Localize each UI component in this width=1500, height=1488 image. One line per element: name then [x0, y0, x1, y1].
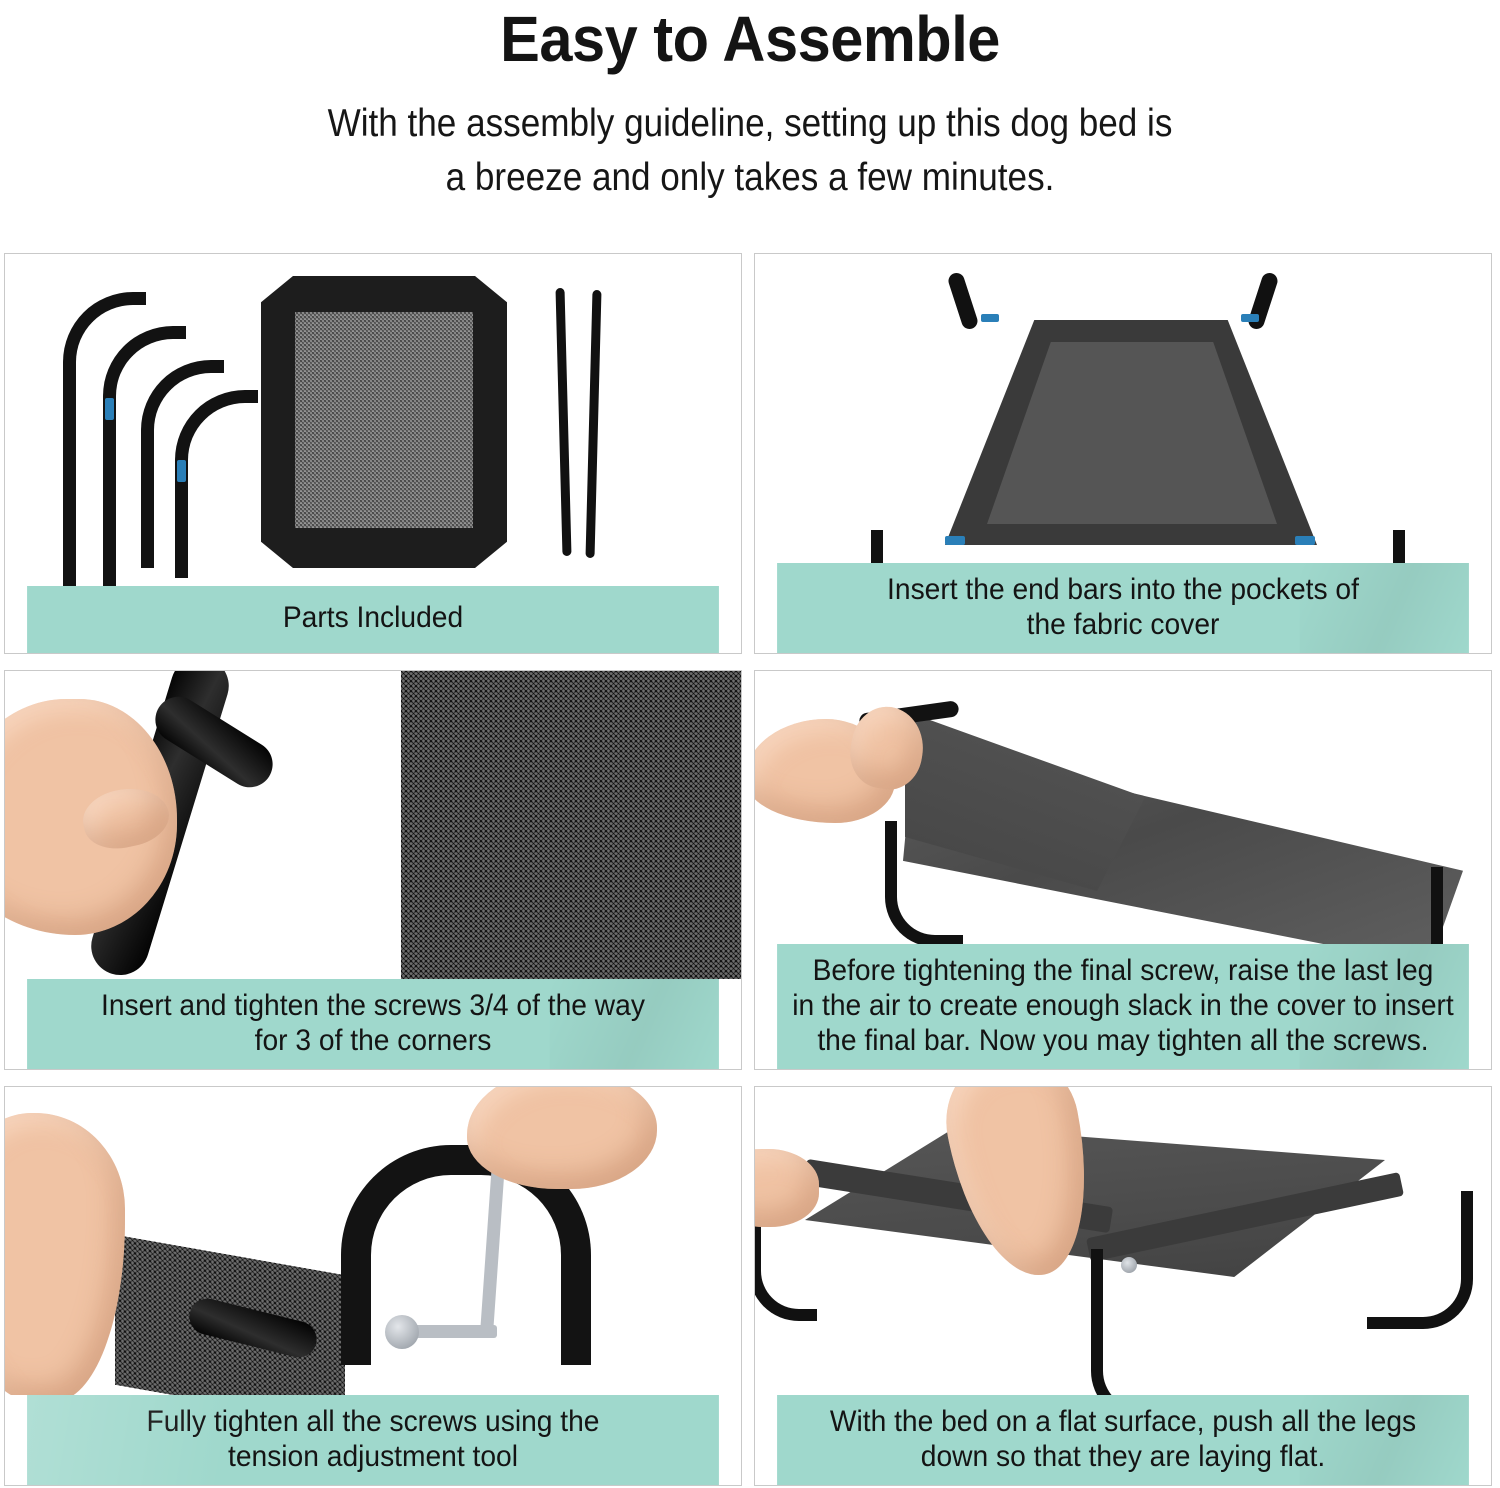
fabric-cover-mesh — [295, 312, 473, 528]
step-5-caption-line-1: Fully tighten all the screws using the — [36, 1404, 709, 1439]
step-6-caption-line-1: With the bed on a flat surface, push all… — [786, 1404, 1459, 1439]
step-2-caption-line-2: the fabric cover — [786, 607, 1459, 642]
corner-label-blue-top-left — [981, 314, 999, 322]
step-1-photo — [5, 254, 741, 586]
step-1-caption-line-1: Parts Included — [36, 600, 709, 635]
page-subtitle-line-1: With the assembly guideline, setting up … — [165, 97, 1335, 151]
hand-pressing-bed — [935, 1087, 1107, 1288]
assembly-step-grid: Parts Included Insert the end bars into … — [0, 253, 1500, 1486]
step-6-photo — [755, 1087, 1491, 1395]
step-panel-2: Insert the end bars into the pockets of … — [754, 253, 1492, 654]
leg-label-blue-2 — [177, 460, 186, 482]
step-panel-5: Fully tighten all the screws using the t… — [4, 1086, 742, 1486]
bed-leg-standing — [885, 821, 963, 944]
step-4-caption-line-3: the final bar. Now you may tighten all t… — [786, 1023, 1459, 1058]
bed-leg-center-front — [1091, 1249, 1199, 1395]
end-bar-hook-right — [1246, 271, 1279, 331]
bed-leg-right — [1367, 1191, 1473, 1329]
bed-leg-front-right — [1303, 530, 1405, 563]
page-title: Easy to Assemble — [53, 2, 1448, 73]
corner-screw-head — [385, 1315, 419, 1349]
corner-label-blue-top-right — [1241, 314, 1259, 322]
step-3-caption-line-2: for 3 of the corners — [36, 1023, 709, 1058]
step-6-caption: With the bed on a flat surface, push all… — [777, 1395, 1469, 1485]
step-2-caption: Insert the end bars into the pockets of … — [777, 563, 1469, 653]
bed-leg-far — [1345, 867, 1443, 944]
bed-leg-front-left — [871, 530, 973, 563]
end-bar-1 — [555, 288, 571, 556]
hand-steadying-bed — [5, 1113, 125, 1395]
step-1-caption: Parts Included — [27, 586, 719, 653]
step-4-caption-line-1: Before tightening the final screw, raise… — [786, 953, 1459, 988]
leg-label-blue-1 — [105, 398, 114, 420]
step-4-caption-line-2: in the air to create enough slack in the… — [786, 988, 1459, 1023]
end-bar-hook-left — [946, 271, 979, 331]
step-4-photo — [755, 671, 1491, 944]
page-subtitle: With the assembly guideline, setting up … — [165, 97, 1335, 205]
step-2-caption-line-1: Insert the end bars into the pockets of — [786, 572, 1459, 607]
step-panel-4: Before tightening the final screw, raise… — [754, 670, 1492, 1070]
step-panel-6: With the bed on a flat surface, push all… — [754, 1086, 1492, 1486]
step-3-caption: Insert and tighten the screws 3/4 of the… — [27, 979, 719, 1069]
step-panel-3: Insert and tighten the screws 3/4 of the… — [4, 670, 742, 1070]
header: Easy to Assemble With the assembly guide… — [0, 0, 1500, 205]
end-bar-2 — [585, 290, 601, 558]
page-subtitle-line-2: a breeze and only takes a few minutes. — [165, 151, 1335, 205]
step-2-photo — [755, 254, 1491, 563]
step-6-caption-line-2: down so that they are laying flat. — [786, 1439, 1459, 1474]
hand-turning-wrench — [467, 1087, 657, 1189]
step-5-caption-line-2: tension adjustment tool — [36, 1439, 709, 1474]
leg-4 — [175, 390, 258, 578]
bed-mesh-fabric — [401, 671, 741, 979]
step-3-caption-line-1: Insert and tighten the screws 3/4 of the… — [36, 988, 709, 1023]
fabric-cover — [261, 276, 507, 568]
step-5-photo — [5, 1087, 741, 1395]
step-4-caption: Before tightening the final screw, raise… — [777, 944, 1469, 1069]
step-panel-1: Parts Included — [4, 253, 742, 654]
step-3-photo — [5, 671, 741, 979]
step-5-caption: Fully tighten all the screws using the t… — [27, 1395, 719, 1485]
